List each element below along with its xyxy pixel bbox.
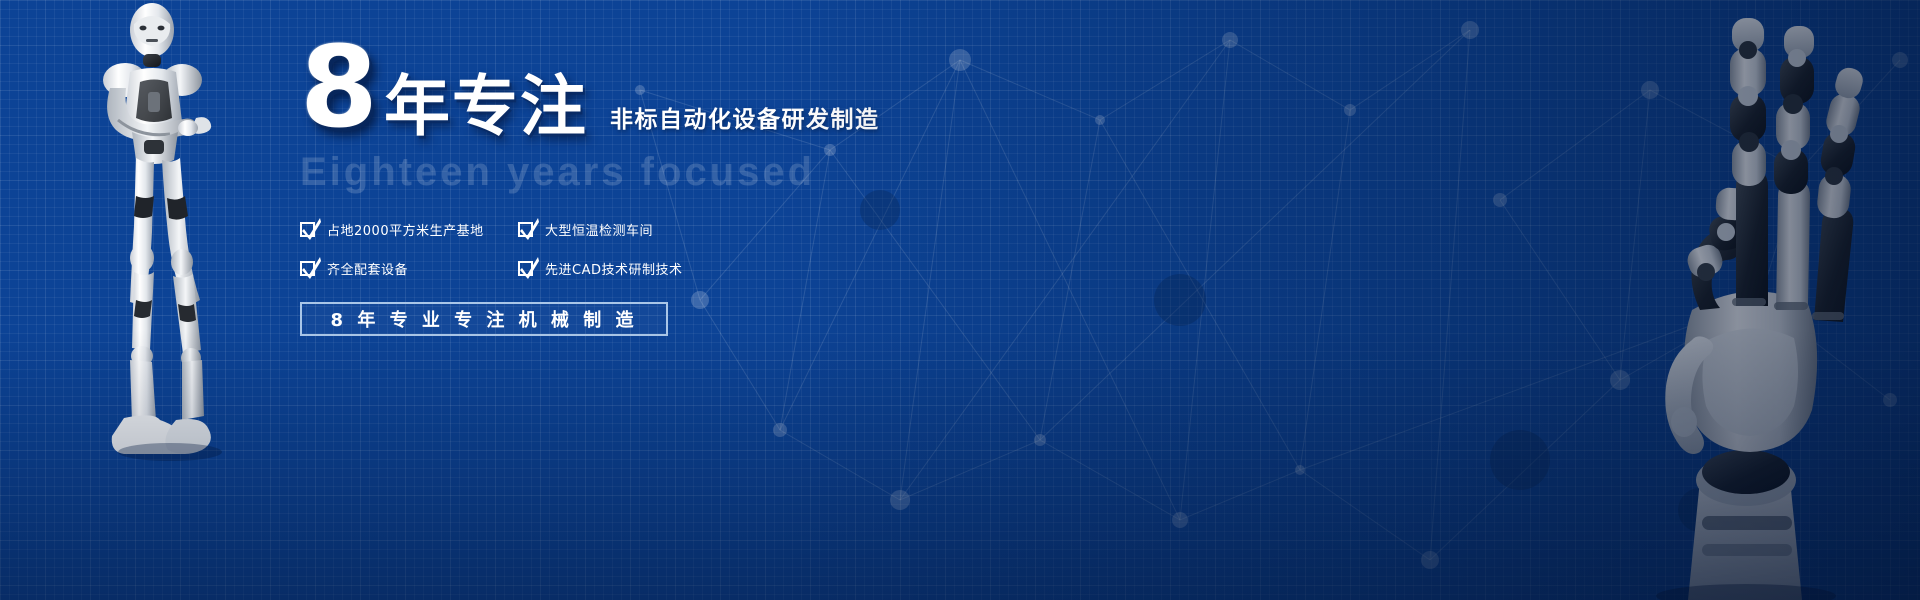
check-icon bbox=[300, 261, 315, 276]
humanoid-robot-icon bbox=[70, 0, 260, 490]
check-icon bbox=[300, 222, 315, 237]
checklist-item: 先进CAD技术研制技术 bbox=[518, 259, 720, 278]
checklist-label: 齐全配套设备 bbox=[327, 259, 408, 278]
check-icon bbox=[518, 222, 533, 237]
robotic-hand-icon bbox=[1580, 10, 1910, 600]
headline-subtitle: 非标自动化设备研发制造 bbox=[610, 100, 880, 134]
checklist-label: 大型恒温检测车间 bbox=[545, 220, 653, 239]
checklist-item: 大型恒温检测车间 bbox=[518, 220, 720, 239]
checklist-item: 齐全配套设备 bbox=[300, 259, 518, 278]
cta-label: 8 年 专 业 专 注 机 械 制 造 bbox=[331, 306, 638, 332]
headline-text: 年专注 bbox=[384, 74, 588, 140]
cta-button[interactable]: 8 年 专 业 专 注 机 械 制 造 bbox=[300, 302, 668, 336]
banner-root: 8 年专注 非标自动化设备研发制造 Eighteen years focused… bbox=[0, 0, 1920, 600]
ghost-english-text: Eighteen years focused bbox=[300, 150, 1060, 194]
checklist-label: 先进CAD技术研制技术 bbox=[545, 259, 682, 278]
checklist-label: 占地2000平方米生产基地 bbox=[327, 220, 484, 239]
feature-checklist: 占地2000平方米生产基地 大型恒温检测车间 齐全配套设备 先进CAD技术研制技… bbox=[300, 220, 720, 278]
check-icon bbox=[518, 261, 533, 276]
headline-row: 8 年专注 非标自动化设备研发制造 bbox=[300, 60, 1060, 144]
checklist-item: 占地2000平方米生产基地 bbox=[300, 220, 518, 239]
banner-content: 8 年专注 非标自动化设备研发制造 Eighteen years focused… bbox=[300, 60, 1060, 336]
headline-number: 8 bbox=[300, 32, 376, 144]
